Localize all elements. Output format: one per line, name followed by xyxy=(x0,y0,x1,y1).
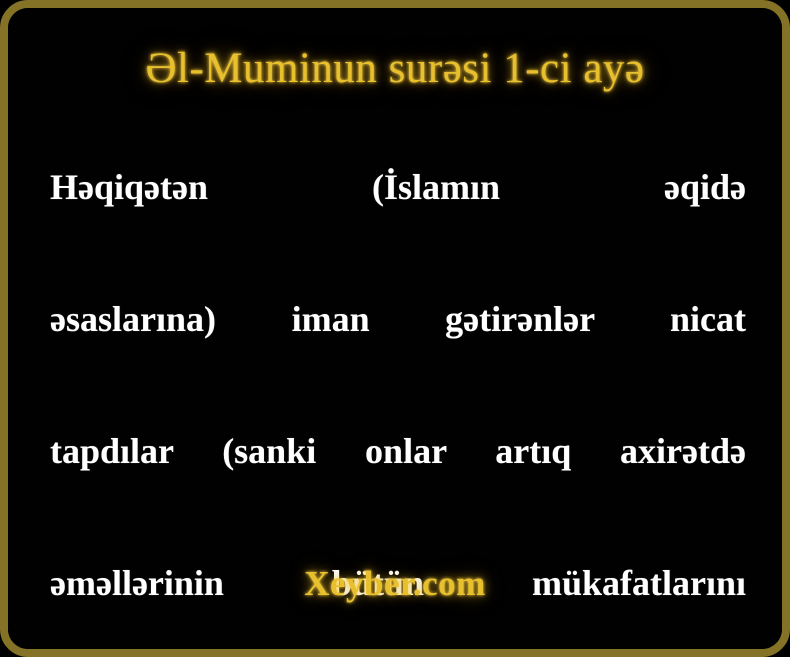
verse-line: əsaslarına) iman gətirənlər nicat xyxy=(50,286,746,418)
card-inner-surface: Əl-Muminun surəsi 1-ci ayə Həqiqətən (İs… xyxy=(8,8,782,649)
watermark-label: Xeyber.com xyxy=(8,564,782,604)
verse-card: Əl-Muminun surəsi 1-ci ayə Həqiqətən (İs… xyxy=(0,0,790,657)
verse-line: Həqiqətən (İslamın əqidə xyxy=(50,154,746,286)
page-title: Əl-Muminun surəsi 1-ci ayə xyxy=(8,44,782,93)
verse-line: tapdılar (sanki onlar artıq axirətdə xyxy=(50,418,746,550)
